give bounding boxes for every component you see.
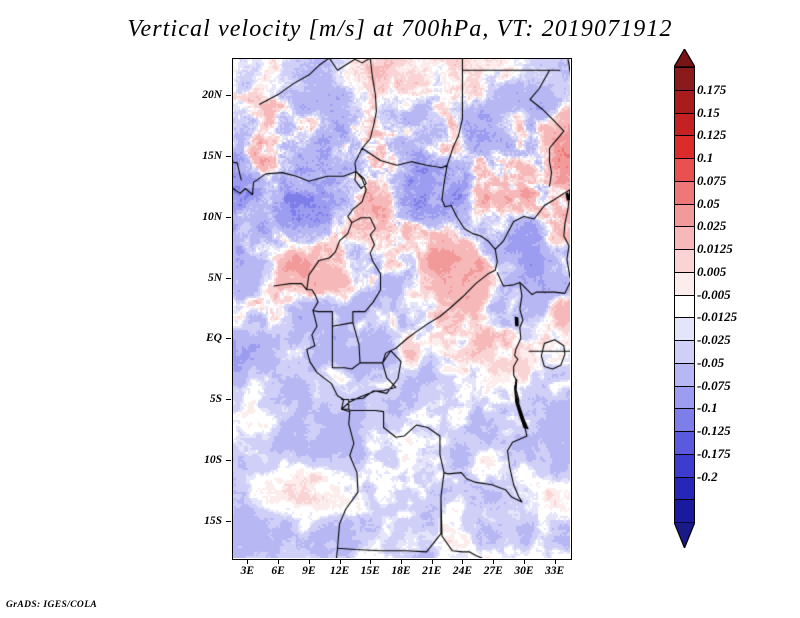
colorbar-segment: [674, 431, 695, 455]
colorbar-segment: [674, 477, 695, 501]
colorbar-label: -0.05: [697, 355, 724, 371]
colorbar-label: 0.005: [697, 264, 726, 280]
x-axis-label: 6E: [271, 565, 284, 577]
x-axis-label: 27E: [484, 565, 503, 577]
colorbar-label: -0.1: [697, 400, 718, 416]
colorbar-segment: [674, 67, 695, 91]
colorbar-label: 0.025: [697, 218, 726, 234]
colorbar-segment: [674, 340, 695, 364]
colorbar-label: -0.005: [697, 287, 731, 303]
colorbar-arrow-bottom: [674, 522, 695, 548]
colorbar-segment: [674, 408, 695, 432]
colorbar-segment: [674, 226, 695, 250]
page-title: Vertical velocity [m/s] at 700hPa, VT: 2…: [0, 16, 800, 43]
x-axis-label: 24E: [453, 565, 472, 577]
x-axis-label: 15E: [361, 565, 380, 577]
x-axis-tick: [340, 559, 341, 564]
colorbar-label: 0.05: [697, 196, 720, 212]
colorbar-label: 0.125: [697, 127, 726, 143]
y-axis-tick: [226, 217, 231, 218]
y-axis-label: 10N: [184, 211, 222, 223]
x-axis-tick: [401, 559, 402, 564]
colorbar-segment: [674, 499, 695, 523]
y-axis-tick: [226, 278, 231, 279]
x-axis-tick: [247, 559, 248, 564]
x-axis-label: 12E: [330, 565, 349, 577]
colorbar-label: 0.15: [697, 105, 720, 121]
x-axis-tick: [462, 559, 463, 564]
footer-credit: GrADS: IGES/COLA: [6, 600, 97, 610]
colorbar: 0.1750.150.1250.10.0750.050.0250.01250.0…: [660, 60, 800, 560]
colorbar-label: -0.0125: [697, 309, 737, 325]
x-axis-label: 3E: [241, 565, 254, 577]
colorbar-segment: [674, 181, 695, 205]
colorbar-label: -0.125: [697, 423, 731, 439]
colorbar-segment: [674, 386, 695, 410]
colorbar-label: -0.025: [697, 332, 731, 348]
colorbar-segment: [674, 158, 695, 182]
x-axis-tick: [493, 559, 494, 564]
colorbar-label: 0.175: [697, 82, 726, 98]
colorbar-label: -0.075: [697, 378, 731, 394]
colorbar-label: 0.075: [697, 173, 726, 189]
y-axis-label: 10S: [184, 454, 222, 466]
colorbar-segment: [674, 295, 695, 319]
colorbar-arrow-top: [674, 49, 695, 67]
colorbar-label: -0.175: [697, 446, 731, 462]
y-axis-tick: [226, 156, 231, 157]
colorbar-segment: [674, 272, 695, 296]
grads-plot-canvas: Vertical velocity [m/s] at 700hPa, VT: 2…: [0, 0, 800, 618]
colorbar-label: 0.1: [697, 150, 713, 166]
colorbar-segment: [674, 135, 695, 159]
y-axis-tick: [226, 95, 231, 96]
x-axis-tick: [278, 559, 279, 564]
colorbar-label: 0.0125: [697, 241, 733, 257]
colorbar-segment: [674, 363, 695, 387]
x-axis-label: 9E: [302, 565, 315, 577]
y-axis-tick: [226, 399, 231, 400]
colorbar-segment: [674, 249, 695, 273]
x-axis-label: 30E: [514, 565, 533, 577]
x-axis-tick: [309, 559, 310, 564]
y-axis-tick: [226, 521, 231, 522]
y-axis-label: 5S: [184, 393, 222, 405]
x-axis-tick: [524, 559, 525, 564]
y-axis-tick: [226, 338, 231, 339]
colorbar-segment: [674, 113, 695, 137]
y-axis-label: 20N: [184, 89, 222, 101]
x-axis-tick: [555, 559, 556, 564]
y-axis-label: 5N: [184, 272, 222, 284]
colorbar-segment: [674, 454, 695, 478]
colorbar-segment: [674, 317, 695, 341]
x-axis-tick: [370, 559, 371, 564]
colorbar-label: -0.2: [697, 469, 718, 485]
colorbar-segment: [674, 204, 695, 228]
colorbar-segment: [674, 90, 695, 114]
x-axis-label: 18E: [391, 565, 410, 577]
y-axis-label: 15S: [184, 515, 222, 527]
y-axis-label: 15N: [184, 150, 222, 162]
y-axis-label: EQ: [184, 332, 222, 344]
map-plot-area: [232, 58, 570, 558]
country-borders-overlay: [232, 58, 570, 558]
x-axis-label: 21E: [422, 565, 441, 577]
y-axis-tick: [226, 460, 231, 461]
x-axis-tick: [432, 559, 433, 564]
x-axis-label: 33E: [545, 565, 564, 577]
